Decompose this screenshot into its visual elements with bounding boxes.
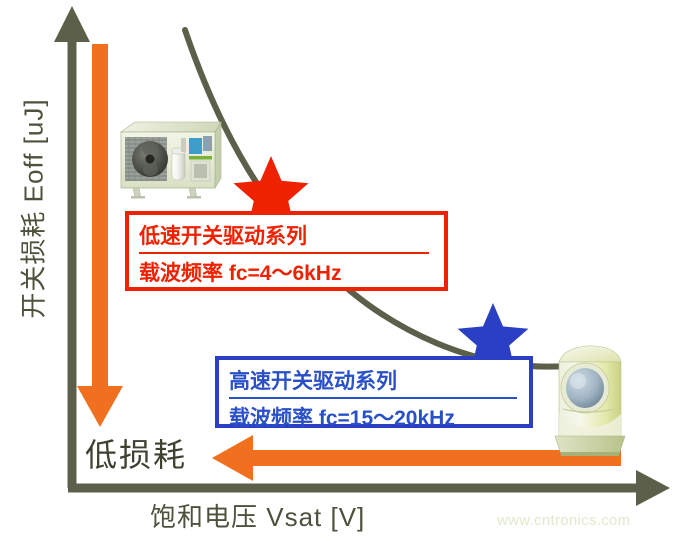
callout-low-speed-frequency: 载波频率 fc=4〜6kHz bbox=[139, 254, 434, 287]
callout-low-speed-series: 低速开关驱动系列 载波频率 fc=4〜6kHz bbox=[125, 211, 448, 291]
callout-low-speed-title: 低速开关驱动系列 bbox=[139, 220, 429, 254]
callout-high-speed-title: 高速开关驱动系列 bbox=[229, 365, 517, 399]
callout-high-speed-series: 高速开关驱动系列 载波频率 fc=15〜20kHz bbox=[215, 356, 533, 428]
callout-high-speed-frequency: 载波频率 fc=15〜20kHz bbox=[229, 399, 519, 432]
y-axis-label: 开关损耗 Eoff [uJ] bbox=[14, 19, 51, 399]
x-axis-label: 饱和电压 Vsat [V] bbox=[150, 497, 365, 534]
watermark-text: www.cntronics.com bbox=[497, 512, 630, 529]
low-loss-label: 低损耗 bbox=[85, 430, 187, 476]
air-conditioner-unit-image bbox=[117, 118, 225, 200]
chart-canvas: 开关损耗 Eoff [uJ] 饱和电压 Vsat [V] 低损耗 低速开关驱动系… bbox=[0, 0, 678, 541]
x-axis-arrowhead bbox=[636, 470, 670, 506]
low-loss-vertical-arrow bbox=[77, 44, 123, 427]
washing-machine-image bbox=[545, 340, 630, 460]
y-axis-arrowhead bbox=[54, 6, 90, 42]
tradeoff-curve bbox=[185, 30, 566, 367]
